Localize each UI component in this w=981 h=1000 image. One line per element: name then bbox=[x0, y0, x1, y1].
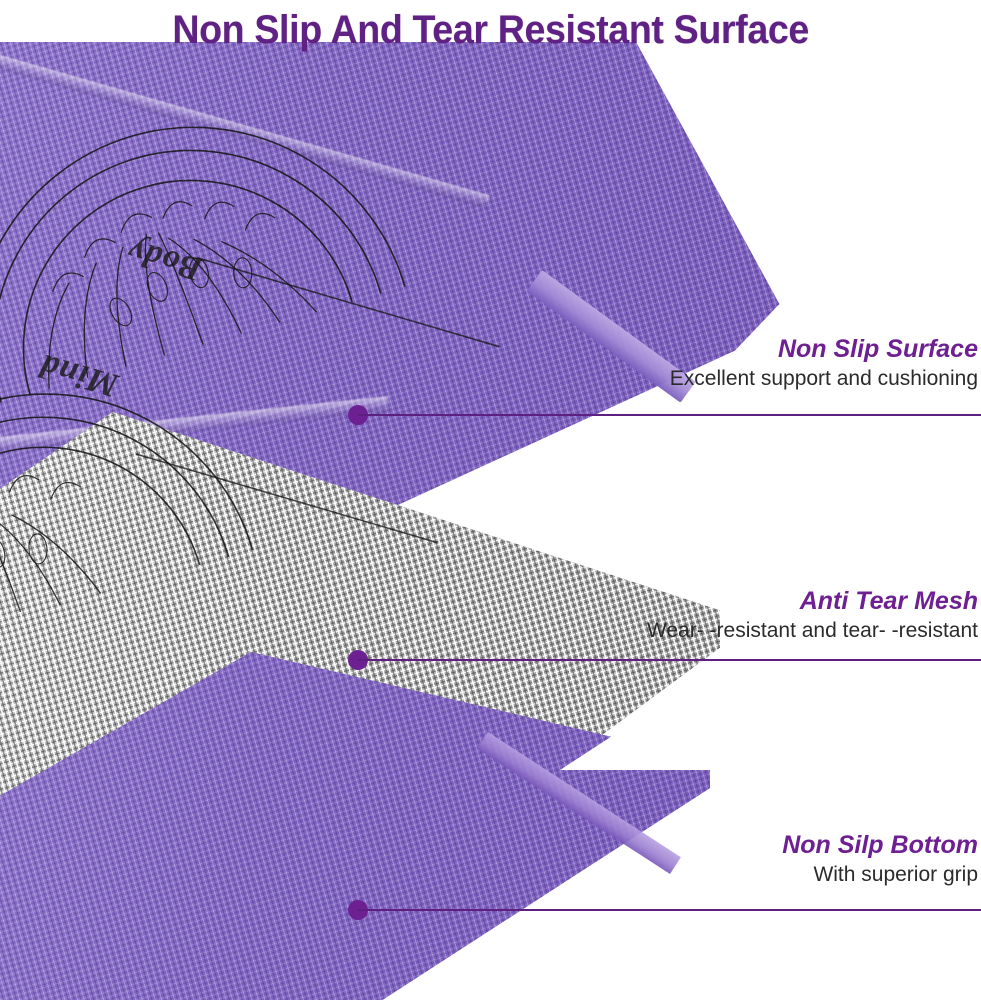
callout-subtitle: Excellent support and cushioning bbox=[418, 366, 978, 391]
callout-text-block: Anti Tear Mesh Wear- -resistant and tear… bbox=[418, 588, 978, 643]
page-title: Non Slip And Tear Resistant Surface bbox=[172, 8, 809, 53]
callout-title: Anti Tear Mesh bbox=[418, 588, 978, 614]
page-title-bar: Non Slip And Tear Resistant Surface bbox=[0, 0, 981, 60]
callout-leader-line bbox=[358, 909, 981, 911]
infographic-canvas: Body Mind Non Slip And Tear Resistant Su… bbox=[0, 0, 981, 1000]
callout-text-block: Non Silp Bottom With superior grip bbox=[418, 832, 978, 887]
callout-title: Non Silp Bottom bbox=[418, 832, 978, 858]
callout-subtitle: With superior grip bbox=[418, 862, 978, 887]
callout-title: Non Slip Surface bbox=[418, 336, 978, 362]
callout-text-block: Non Slip Surface Excellent support and c… bbox=[418, 336, 978, 391]
callout-leader-line bbox=[358, 414, 981, 416]
callout-subtitle: Wear- -resistant and tear- -resistant bbox=[418, 618, 978, 643]
callout-leader-line bbox=[358, 659, 981, 661]
